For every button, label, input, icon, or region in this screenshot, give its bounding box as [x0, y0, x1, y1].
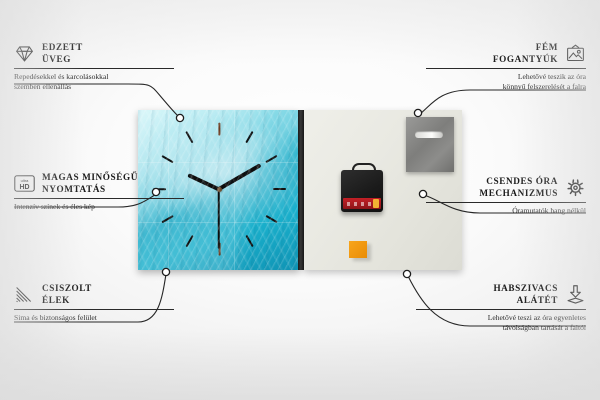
- callout-subtitle: Intenzív színek és éles kép: [14, 202, 184, 212]
- callout-rule: [14, 309, 174, 310]
- infographic-canvas: EDZETT ÜVEG Repedésekkel és karcolásokka…: [0, 0, 600, 400]
- callout-tempered-glass: EDZETT ÜVEG Repedésekkel és karcolásokka…: [14, 42, 174, 92]
- callout-rule: [426, 68, 586, 69]
- clock-hub: [217, 187, 222, 192]
- callout-subtitle: Lehetővé teszi az óra egyenletes távolsá…: [416, 313, 586, 333]
- callout-title: FÉM FOGANTYÚK: [493, 42, 558, 65]
- diamond-icon: [14, 43, 35, 64]
- product-image: [138, 110, 462, 270]
- svg-text:ultra: ultra: [21, 178, 30, 183]
- callout-rule: [426, 202, 586, 203]
- clock-tick: [245, 235, 253, 247]
- clock-tick: [218, 122, 220, 135]
- arrow-onto-pad-icon: [565, 284, 586, 305]
- callout-rule: [14, 68, 174, 69]
- gear-icon: [565, 177, 586, 198]
- callout-high-quality-print: ultra HD MAGAS MINŐSÉGŰ NYOMTATÁS Intenz…: [14, 172, 184, 212]
- clock-tick: [161, 215, 173, 223]
- callout-title: EDZETT ÜVEG: [42, 42, 83, 65]
- clock-tick: [273, 188, 286, 190]
- clock-minute-hand: [218, 163, 262, 191]
- callout-foam-pad: HABSZIVACS ALÁTÉT Lehetővé teszi az óra …: [416, 283, 586, 333]
- callout-subtitle: Sima és biztonságos felület: [14, 313, 174, 323]
- metal-hanger-plate: [406, 117, 454, 172]
- clock-hour-hand: [187, 173, 220, 191]
- clock-tick: [185, 131, 193, 143]
- callout-subtitle: Repedésekkel és karcolásokkal szemben el…: [14, 72, 174, 92]
- callout-title: HABSZIVACS ALÁTÉT: [493, 283, 558, 306]
- clock-tick: [185, 235, 193, 247]
- callout-title: CSISZOLT ÉLEK: [42, 283, 92, 306]
- ultra-hd-icon: ultra HD: [14, 173, 35, 194]
- callout-polished-edges: CSISZOLT ÉLEK Sima és biztonságos felüle…: [14, 283, 174, 323]
- clock-tick: [161, 155, 173, 163]
- callout-rule: [416, 309, 586, 310]
- callout-title: MAGAS MINŐSÉGŰ NYOMTATÁS: [42, 172, 138, 195]
- clock-tick: [265, 155, 277, 163]
- clock-second-hand: [218, 189, 220, 249]
- callout-metal-handles: FÉM FOGANTYÚK Lehetővé teszik az óra kön…: [426, 42, 586, 92]
- callout-subtitle: Óramutatók hang nélkül: [426, 206, 586, 216]
- callout-silent-mechanism: CSENDES ÓRA MECHANIZMUS Óramutatók hang …: [426, 176, 586, 216]
- clock-tick: [245, 131, 253, 143]
- callout-subtitle: Lehetővé teszik az óra könnyű felszerelé…: [426, 72, 586, 92]
- callout-title: CSENDES ÓRA MECHANIZMUS: [479, 176, 558, 199]
- connector-endpoint: [403, 270, 410, 277]
- callout-rule: [14, 198, 184, 199]
- picture-frame-hanger-icon: [565, 43, 586, 64]
- clock-tick: [265, 215, 277, 223]
- bevel-hatch-icon: [14, 284, 35, 305]
- foam-pad: [349, 241, 367, 258]
- svg-text:HD: HD: [19, 184, 29, 191]
- clock-tick: [218, 242, 220, 255]
